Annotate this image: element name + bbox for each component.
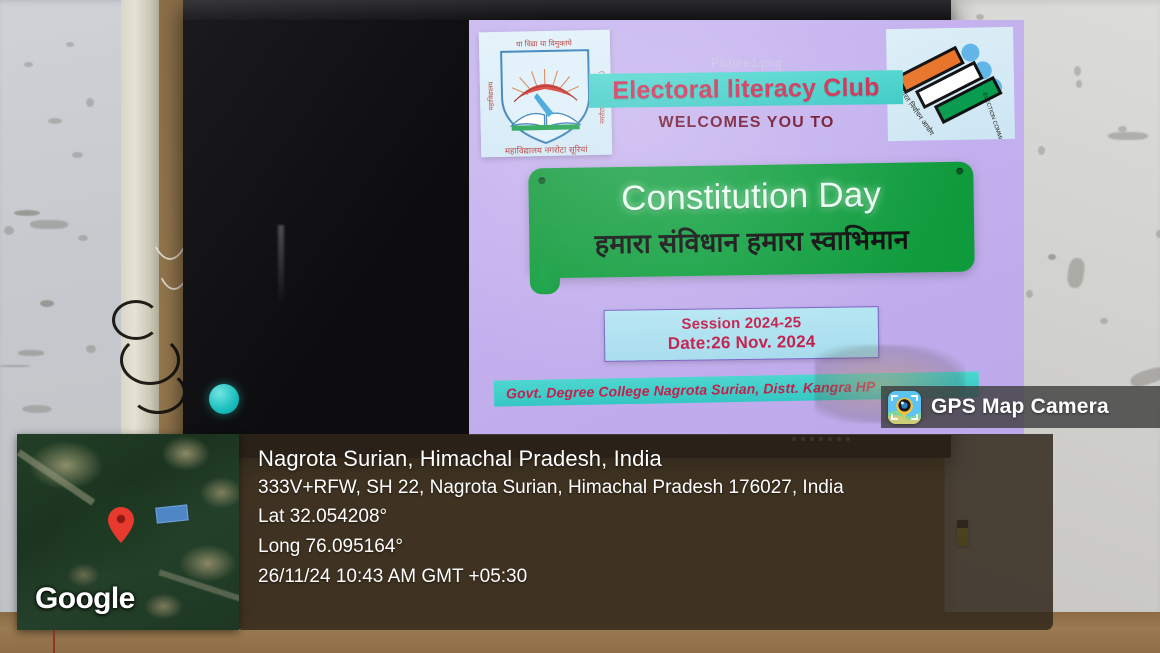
banner-title-english: Constitution Day [528,174,974,221]
display-top-bezel [183,0,951,20]
gps-map-thumbnail[interactable]: Google [17,434,239,630]
club-heading-band: Electoral literacy Club [589,70,903,108]
photograph-scene: Picture1.png या विद्या या विमुक्तये [0,0,1160,653]
map-building-roof [155,504,188,523]
gps-address: 333V+RFW, SH 22, Nagrota Surian, Himacha… [258,477,1053,499]
power-indicator-button[interactable] [209,384,239,414]
gps-longitude: Long 76.095164° [258,536,1053,558]
gps-latitude: Lat 32.054208° [258,506,1053,528]
banner-title-hindi: हमारा संविधान हमारा स्वाभिमान [529,219,975,263]
cable-bundle [130,370,186,414]
google-watermark: Google [35,582,135,616]
bezel-reflection [278,225,284,305]
gps-map-camera-label: GPS Map Camera [931,395,1109,419]
location-pin-icon [107,506,135,544]
gps-map-camera-app-icon [888,391,921,424]
map-thumbnail-tether [53,630,55,653]
club-heading-text: Electoral literacy Club [612,73,880,105]
svg-text:या विद्या या विमुक्तये: या विद्या या विमुक्तये [516,38,573,49]
cable-bundle [112,300,160,340]
constitution-day-banner: Constitution Day हमारा संविधान हमारा स्व… [528,162,975,279]
gps-map-camera-badge: GPS Map Camera [881,386,1160,428]
svg-text:महाविद्यालय नगरोटा सूरियां: महाविद्यालय नगरोटा सूरियां [505,144,589,157]
event-date-label: Date:26 Nov. 2024 [668,332,816,354]
interactive-display[interactable]: Picture1.png या विद्या या विमुक्तये [183,0,951,458]
gps-timestamp: 26/11/24 10:43 AM GMT +05:30 [258,566,1053,588]
welcomes-text: WELCOMES YOU TO [469,114,1024,132]
session-label: Session 2024-25 [681,314,801,333]
gps-info-panel: Nagrota Surian, Himachal Pradesh, India … [236,434,1053,630]
gps-place-name: Nagrota Surian, Himachal Pradesh, India [258,446,1053,472]
svg-text:महाविद्यालय: महाविद्यालय [487,82,496,111]
